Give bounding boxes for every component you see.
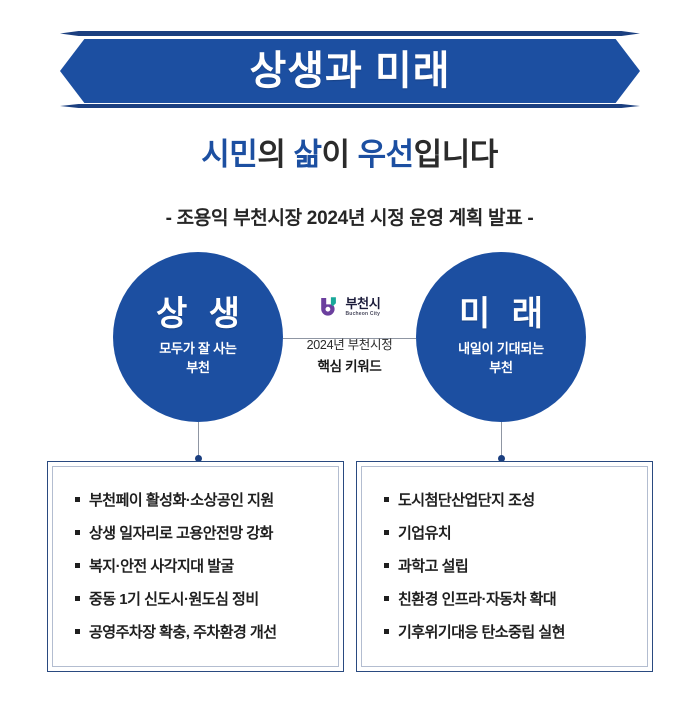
banner-top-accent-line — [60, 31, 640, 36]
circle-desc-line2: 부천 — [186, 360, 210, 375]
list-item-label: 도시첨단산업단지 조성 — [398, 493, 535, 508]
bullet-square-icon — [75, 497, 80, 502]
bullet-square-icon — [384, 596, 389, 601]
bullet-square-icon — [384, 497, 389, 502]
circle-keyword-label: 미 래 — [453, 296, 549, 333]
list-item-label: 상생 일자리로 고용안전망 강화 — [89, 526, 273, 541]
list-item: 도시첨단산업단지 조성 — [384, 484, 635, 517]
bullet-square-icon — [75, 629, 80, 634]
center-caption: 2024년 부천시정 핵심 키워드 — [283, 336, 416, 378]
bullet-square-icon — [384, 629, 389, 634]
center-caption-top: 2024년 부천시정 — [307, 338, 393, 352]
list-item: 복지·안전 사각지대 발굴 — [75, 550, 326, 583]
logo-name-ko: 부천시 — [346, 297, 381, 310]
logo-name-en: Bucheon City — [346, 312, 381, 317]
list-item-label: 공영주차장 확충, 주차환경 개선 — [89, 625, 277, 640]
circle-desc-line2: 부천 — [489, 360, 513, 375]
stem-line-left — [198, 422, 199, 458]
subtitle-part-subject: 이 — [321, 137, 357, 172]
banner-bottom-accent-line — [60, 104, 640, 108]
subtitle-part-of: 의 — [257, 137, 293, 172]
bucheon-logo-icon — [319, 296, 341, 318]
list-item-label: 복지·안전 사각지대 발굴 — [89, 559, 234, 574]
circle-desc-line1: 내일이 기대되는 — [458, 341, 544, 356]
bullet-square-icon — [384, 530, 389, 535]
logo-wordmark: 부천시 Bucheon City — [346, 297, 381, 317]
subtitle-part-citizens: 시민 — [201, 137, 257, 172]
list-item: 기후위기대응 탄소중립 실현 — [384, 616, 635, 649]
subtitle-part-priority: 우선 — [358, 137, 414, 172]
list-item-label: 중동 1기 신도시·원도심 정비 — [89, 592, 259, 607]
bucheon-city-logo: 부천시 Bucheon City — [283, 292, 416, 322]
bullet-square-icon — [75, 530, 80, 535]
list-item: 친환경 인프라·자동차 확대 — [384, 583, 635, 616]
stem-line-right — [501, 422, 502, 458]
logo-shape-teal — [330, 297, 335, 306]
policy-list-right: 도시첨단산업단지 조성 기업유치 과학고 설립 친환경 인프라·자동차 확대 기… — [361, 466, 648, 667]
header-banner: 상생과 미래 — [60, 31, 640, 109]
bullet-square-icon — [75, 596, 80, 601]
subtitle: 시민의 삶이 우선입니다 — [0, 136, 699, 173]
subtitle-part-ending: 입니다 — [414, 137, 498, 172]
circle-keyword-label: 상 생 — [150, 296, 246, 333]
subtitle-part-life: 삶 — [293, 137, 321, 172]
tagline: - 조용익 부천시장 2024년 시정 운영 계획 발표 - — [0, 203, 699, 230]
list-item: 상생 일자리로 고용안전망 강화 — [75, 517, 326, 550]
keyword-circle-sangsaeng: 상 생 모두가 잘 사는 부천 — [113, 252, 283, 422]
bullet-square-icon — [75, 563, 80, 568]
list-item: 공영주차장 확충, 주차환경 개선 — [75, 616, 326, 649]
list-item: 부천페이 활성화·소상공인 지원 — [75, 484, 326, 517]
list-item: 기업유치 — [384, 517, 635, 550]
circle-description: 모두가 잘 사는 부천 — [159, 340, 236, 378]
list-item-label: 부천페이 활성화·소상공인 지원 — [89, 493, 274, 508]
keyword-circle-mirae: 미 래 내일이 기대되는 부천 — [416, 252, 586, 422]
list-item: 중동 1기 신도시·원도심 정비 — [75, 583, 326, 616]
list-item-label: 기후위기대응 탄소중립 실현 — [398, 625, 565, 640]
list-item-label: 기업유치 — [398, 526, 451, 541]
center-branding-block: 부천시 Bucheon City 2024년 부천시정 핵심 키워드 — [283, 292, 416, 378]
policy-list-box-mirae: 도시첨단산업단지 조성 기업유치 과학고 설립 친환경 인프라·자동차 확대 기… — [356, 461, 653, 672]
circle-description: 내일이 기대되는 부천 — [458, 340, 544, 378]
center-caption-bottom: 핵심 키워드 — [283, 357, 416, 378]
list-item-label: 과학고 설립 — [398, 559, 468, 574]
logo-inner-dot — [325, 307, 330, 312]
keyword-diagram: 상 생 모두가 잘 사는 부천 미 래 내일이 기대되는 부천 부천시 Buch… — [0, 252, 699, 452]
banner-body: 상생과 미래 — [60, 39, 640, 103]
bullet-square-icon — [384, 563, 389, 568]
banner-title: 상생과 미래 — [249, 51, 450, 91]
policy-list-left: 부천페이 활성화·소상공인 지원 상생 일자리로 고용안전망 강화 복지·안전 … — [52, 466, 339, 667]
list-item-label: 친환경 인프라·자동차 확대 — [398, 592, 556, 607]
list-item: 과학고 설립 — [384, 550, 635, 583]
policy-list-box-sangsaeng: 부천페이 활성화·소상공인 지원 상생 일자리로 고용안전망 강화 복지·안전 … — [47, 461, 344, 672]
circle-desc-line1: 모두가 잘 사는 — [159, 341, 236, 356]
